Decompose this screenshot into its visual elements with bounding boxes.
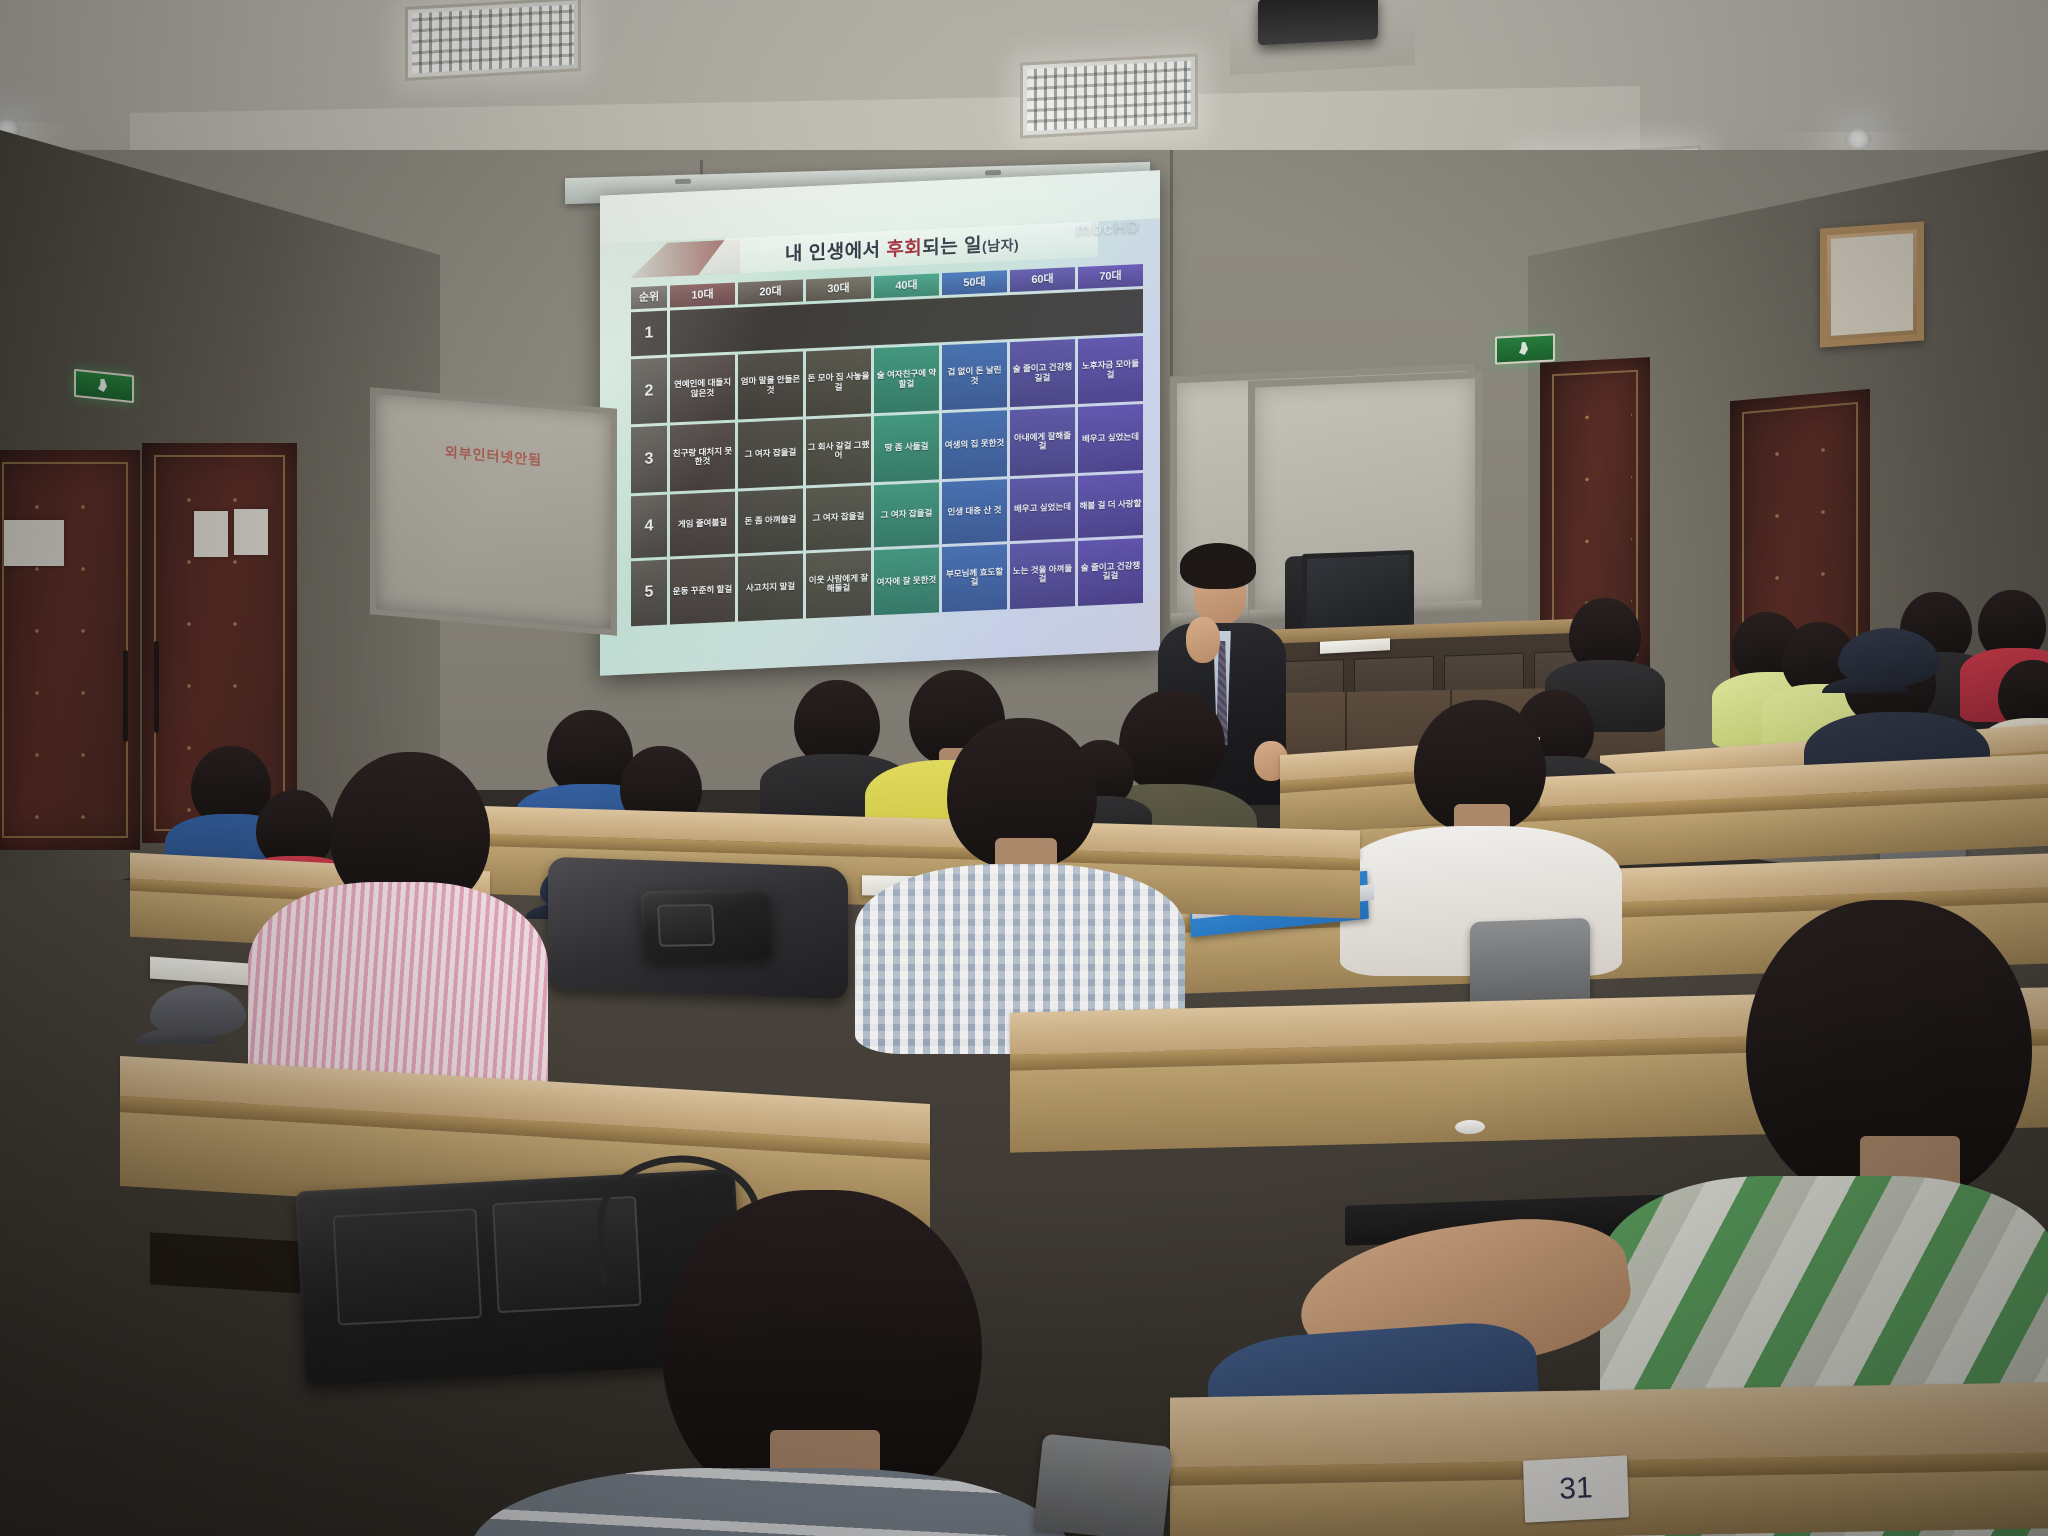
bag-on-desk-small (640, 889, 773, 961)
rank-cell: 2 (631, 358, 667, 425)
ceiling-light-panel (1020, 53, 1198, 138)
data-cell: 그 여자 잡을걸 (874, 482, 939, 547)
ceiling-light-panel (405, 0, 581, 81)
data-cell: 노는 것을 아껴둘걸 (1010, 541, 1075, 609)
student-foreground-grey (470, 1230, 1070, 1536)
data-cell: 엄마 말을 안들은것 (738, 351, 803, 419)
slide-title-sub: (남자) (982, 237, 1019, 255)
column-header-rank: 순위 (631, 286, 667, 310)
projection-screen: 내 인생에서 후회되는 일(남자) mbcHD 순위 10대 20대 30대 4… (600, 170, 1160, 675)
data-cell: 여생의 집 못한것 (942, 411, 1007, 479)
classroom-chair-foreground[interactable] (1033, 1433, 1172, 1536)
data-cell: 사고치지 말걸 (738, 553, 803, 621)
data-cell: 노후자금 모아둘걸 (1078, 336, 1143, 404)
data-cell: 배우고 싶었는데 (1010, 476, 1075, 541)
data-cell: 그 여자 잡을걸 (738, 420, 803, 488)
data-cell: 해볼 걸 더 사랑할 (1078, 473, 1143, 538)
slide-title-highlight: 후회 (886, 238, 922, 261)
column-header-40s: 40대 (874, 273, 939, 298)
student-check-shirt (855, 718, 1185, 1038)
rank-cell: 4 (631, 494, 667, 558)
notice-board-text: 외부인터넷안됨 (376, 436, 611, 477)
data-cell: 돈 모아 집 사놓을걸 (806, 348, 871, 416)
column-header-60s: 60대 (1010, 267, 1075, 292)
data-cell: 술 여자친구에 약할걸 (874, 345, 939, 413)
data-cell: 여자에 잘 못한것 (874, 547, 939, 615)
ceiling-projector (1230, 0, 1415, 75)
data-cell: 게임 줄여볼걸 (670, 491, 735, 556)
rank-cell: 1 (631, 311, 667, 357)
notice-board: 외부인터넷안됨 (370, 387, 617, 636)
desk-number-plate: 31 (1523, 1455, 1629, 1522)
slide-title-tail: 되는 일 (922, 235, 982, 259)
lecture-hall-photo: 내 인생에서 후회되는 일(남자) mbcHD 순위 10대 20대 30대 4… (0, 0, 2048, 1536)
emergency-exit-sign (1495, 333, 1555, 364)
slide-title-main: 내 인생에서 (785, 240, 886, 266)
data-cell: 연예인에 대들지 않은것 (670, 355, 735, 423)
data-cell: 이웃 사람에게 잘해둘걸 (806, 550, 871, 618)
column-header-20s: 20대 (738, 279, 803, 304)
door-left-leaf[interactable] (0, 450, 140, 850)
mbc-logo-text: mbc (1075, 218, 1113, 239)
regret-ranking-table: 순위 10대 20대 30대 40대 50대 60대 70대 1 2 연예인에 … (628, 261, 1146, 630)
data-cell: 겁 없이 돈 날린 것 (942, 342, 1007, 410)
data-cell: 운동 꾸준히 할걸 (670, 556, 735, 624)
lecturer-hair (1180, 543, 1256, 589)
data-cell: 아내에게 잘해줄걸 (1010, 408, 1075, 476)
data-cell: 친구랑 대처지 못한것 (670, 423, 735, 491)
rank-cell: 3 (631, 426, 667, 493)
data-cell: 인생 대충 산 것 (942, 479, 1007, 544)
data-cell: 술 줄이고 건강챙길걸 (1078, 538, 1143, 606)
lecturer-hand-raised (1186, 617, 1220, 663)
data-cell: 부모님께 효도할걸 (942, 544, 1007, 612)
mbc-logo-hd: HD (1113, 217, 1140, 237)
data-cell: 돈 좀 아껴쓸걸 (738, 488, 803, 553)
cap-on-desk-grey (150, 985, 260, 1061)
wall-picture-frame (1820, 221, 1924, 347)
data-cell: 그 회사 갈걸 그랬어 (806, 417, 871, 485)
data-cell: 땅 좀 사둘걸 (874, 414, 939, 482)
mbc-logo: mbcHD (1075, 217, 1140, 240)
column-header-10s: 10대 (670, 283, 735, 308)
data-cell: 그 여자 잡을걸 (806, 485, 871, 550)
data-cell: 배우고 싶었는데 (1078, 404, 1143, 472)
data-cell: 술 줄이고 건강챙길걸 (1010, 339, 1075, 407)
column-header-50s: 50대 (942, 270, 1007, 295)
rank-cell: 5 (631, 559, 667, 626)
column-header-30s: 30대 (806, 276, 871, 301)
column-header-70s: 70대 (1078, 264, 1143, 289)
